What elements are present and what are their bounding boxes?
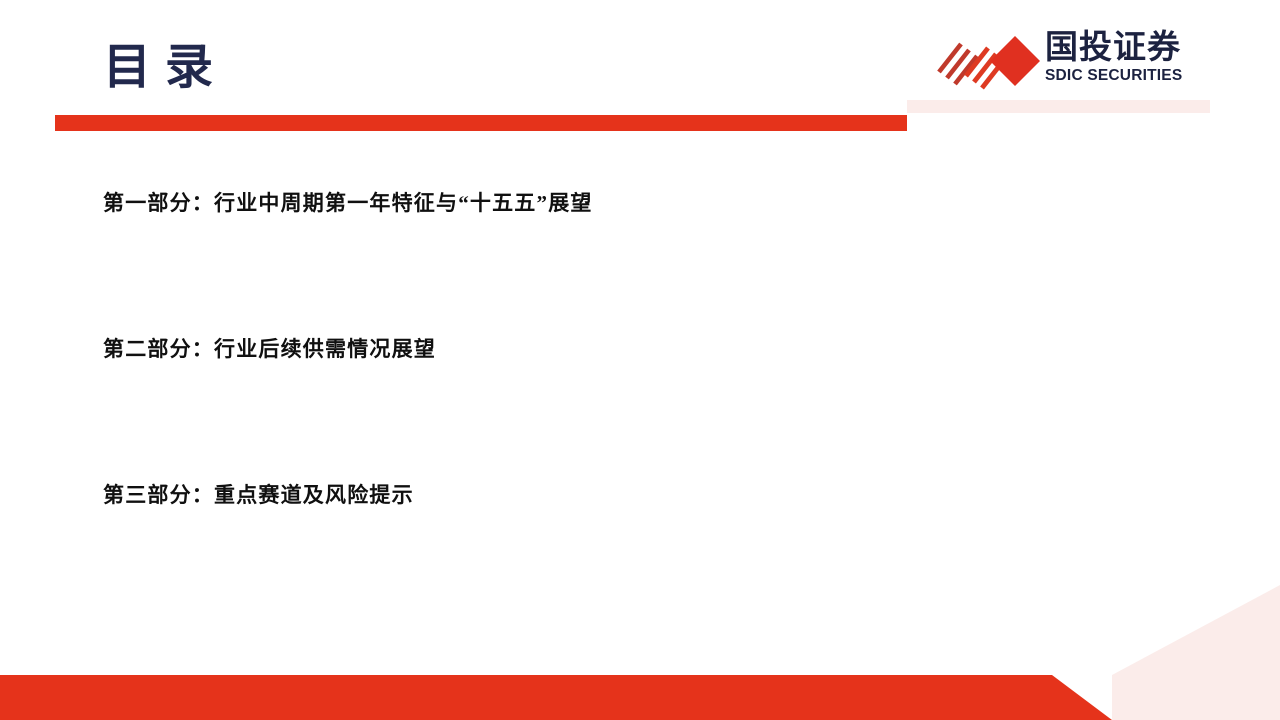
table-of-contents: 第一部分：行业中周期第一年特征与“十五五”展望 第二部分：行业后续供需情况展望 …	[103, 170, 1003, 608]
brand-name-cn: 国投证券	[1045, 27, 1193, 67]
header-pink-accent-bar	[907, 100, 1210, 113]
page-title: 目录	[103, 44, 227, 92]
toc-item-2[interactable]: 第二部分：行业后续供需情况展望	[103, 316, 1003, 462]
footer-decoration	[0, 560, 1280, 720]
brand-name-en: SDIC SECURITIES	[1045, 67, 1193, 85]
title-underline-rule	[55, 115, 907, 131]
toc-item-1[interactable]: 第一部分：行业中周期第一年特征与“十五五”展望	[103, 170, 1003, 316]
sdic-diamond-stripes-logo-icon	[933, 32, 1041, 90]
brand-logo: 国投证券 SDIC SECURITIES	[933, 27, 1193, 95]
slide-canvas: 目录	[0, 0, 1280, 720]
brand-wordmark: 国投证券 SDIC SECURITIES	[1045, 27, 1193, 93]
